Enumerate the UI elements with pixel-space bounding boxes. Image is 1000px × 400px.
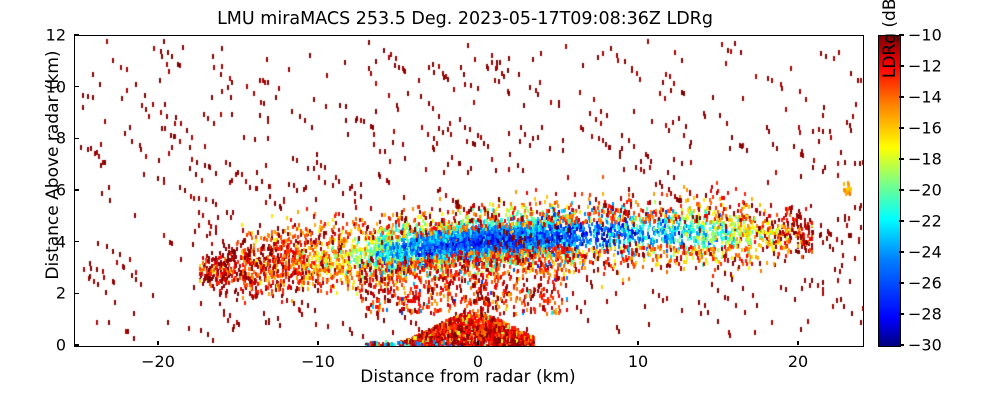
- y-tick-mark: [74, 86, 79, 87]
- colorbar-tick-mark: [899, 251, 904, 252]
- colorbar-tick-mark: [899, 344, 904, 345]
- y-tick-mark: [74, 344, 79, 345]
- y-tick-label: 0: [10, 336, 66, 355]
- colorbar-tick-mark: [899, 282, 904, 283]
- colorbar-tick-label: −18: [908, 150, 942, 169]
- x-tick-mark: [797, 341, 798, 346]
- x-tick-mark: [477, 341, 478, 346]
- colorbar-tick-mark: [899, 220, 904, 221]
- x-axis-label: Distance from radar (km): [74, 367, 862, 387]
- y-axis-label: Distance Above radar (km): [43, 10, 63, 320]
- colorbar-tick-label: −26: [908, 274, 942, 293]
- colorbar-tick-label: −24: [908, 243, 942, 262]
- colorbar-tick-label: −12: [908, 57, 942, 76]
- y-tick-mark: [74, 34, 79, 35]
- colorbar-tick-label: −10: [908, 26, 942, 45]
- x-tick-mark: [157, 341, 158, 346]
- colorbar-tick-mark: [899, 313, 904, 314]
- colorbar-tick-label: −16: [908, 119, 942, 138]
- colorbar-tick-label: −22: [908, 212, 942, 231]
- y-tick-mark: [74, 189, 79, 190]
- radar-cross-section-figure: LMU miraMACS 253.5 Deg. 2023-05-17T09:08…: [0, 0, 1000, 400]
- colorbar-tick-label: −20: [908, 181, 942, 200]
- x-tick-mark: [317, 341, 318, 346]
- y-tick-mark: [74, 241, 79, 242]
- y-tick-mark: [74, 293, 79, 294]
- colorbar-tick-label: −28: [908, 305, 942, 324]
- y-tick-mark: [74, 138, 79, 139]
- colorbar-tick-label: −14: [908, 88, 942, 107]
- colorbar-tick-label: −30: [908, 336, 942, 355]
- chart-title: LMU miraMACS 253.5 Deg. 2023-05-17T09:08…: [0, 9, 930, 29]
- x-tick-mark: [637, 341, 638, 346]
- colorbar-label: LDRg (dB): [880, 0, 900, 190]
- plot-area: [74, 35, 864, 347]
- scatter-plot-canvas: [75, 36, 863, 346]
